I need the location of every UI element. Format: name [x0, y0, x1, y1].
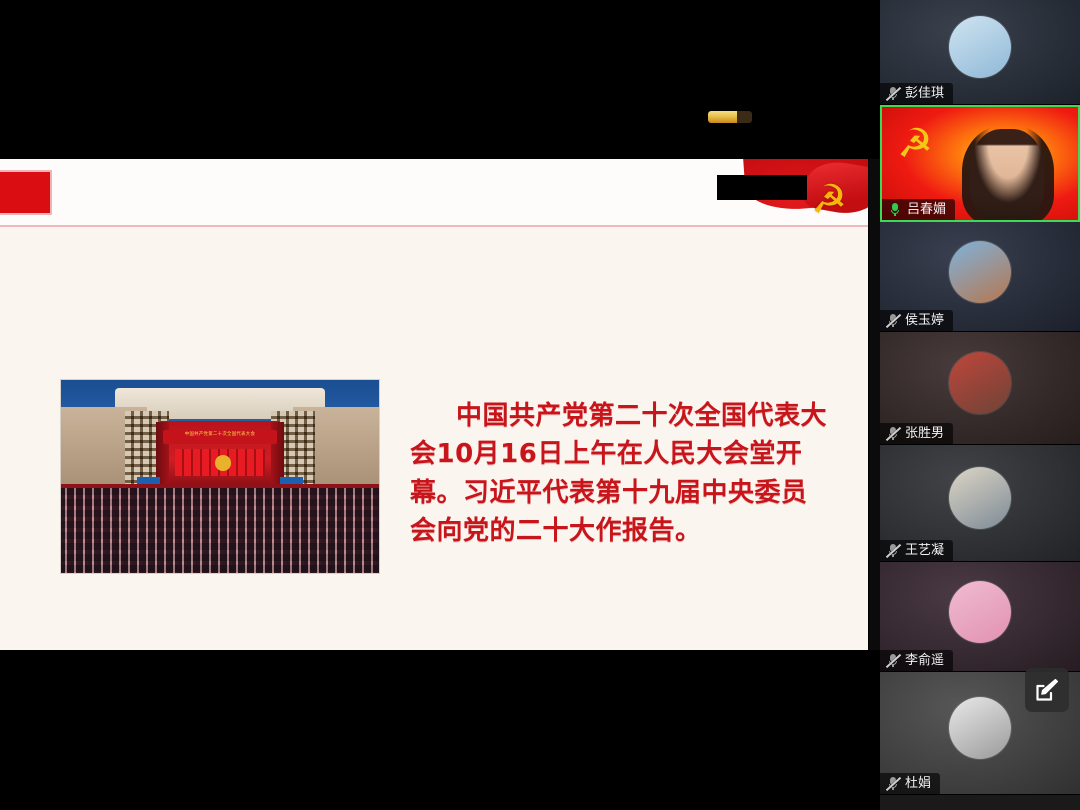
avatar — [949, 241, 1011, 303]
photo-audience — [61, 488, 379, 573]
slide-body: 中国共产党第二十次全国代表大会 中国共产党第二十次全国代表大会10月16日上午在… — [0, 227, 868, 650]
participant-name: 王艺凝 — [905, 543, 944, 558]
participant-name: 彭佳琪 — [905, 86, 944, 101]
participant-nameplate: 杜娟 — [880, 773, 940, 794]
microphone-muted-icon[interactable] — [886, 313, 900, 328]
avatar — [949, 352, 1011, 414]
pencil-icon — [1034, 677, 1060, 703]
avatar-image — [949, 697, 1011, 759]
microphone-muted-icon[interactable] — [886, 776, 900, 791]
congress-hall-photo: 中国共产党第二十次全国代表大会 — [60, 379, 380, 574]
participant-nameplate: 王艺凝 — [880, 540, 953, 561]
participant-tile[interactable]: 侯玉婷 — [880, 222, 1080, 332]
participant-tile[interactable]: 张胜男 — [880, 332, 1080, 445]
participant-nameplate: 侯玉婷 — [880, 310, 953, 331]
meeting-screen: ☭ 中国共产党第二十次全国代表大会 — [0, 0, 1080, 810]
slide-header: ☭ — [0, 159, 868, 225]
avatar-image — [949, 352, 1011, 414]
participant-hair — [962, 125, 1054, 222]
shared-screen-scrollbar-track[interactable] — [869, 159, 880, 650]
participant-nameplate: 张胜男 — [880, 423, 953, 444]
photo-stage-banner: 中国共产党第二十次全国代表大会 — [163, 430, 277, 444]
avatar-image — [949, 241, 1011, 303]
share-progress-fill — [708, 111, 737, 123]
annotate-button[interactable] — [1025, 668, 1069, 712]
participant-name: 侯玉婷 — [905, 313, 944, 328]
participant-name: 吕春媚 — [907, 202, 946, 217]
microphone-muted-icon[interactable] — [886, 86, 900, 101]
slide-header-red-block — [0, 170, 52, 215]
avatar-image — [949, 16, 1011, 78]
avatar-image — [949, 467, 1011, 529]
avatar — [949, 16, 1011, 78]
participant-name: 李俞遥 — [905, 653, 944, 668]
redaction-box — [717, 175, 807, 200]
participant-nameplate: 李俞遥 — [880, 650, 953, 671]
participant-nameplate: 吕春媚 — [882, 199, 955, 220]
microphone-icon[interactable] — [888, 202, 902, 217]
microphone-muted-icon[interactable] — [886, 653, 900, 668]
participant-name: 张胜男 — [905, 426, 944, 441]
presentation-slide: ☭ 中国共产党第二十次全国代表大会 — [0, 159, 868, 650]
participant-tile[interactable]: ☭吕春媚 — [880, 105, 1080, 222]
avatar — [949, 581, 1011, 643]
participant-tile[interactable]: 彭佳琪 — [880, 0, 1080, 105]
microphone-muted-icon[interactable] — [886, 543, 900, 558]
avatar-image — [949, 581, 1011, 643]
participant-tile[interactable]: 王艺凝 — [880, 445, 1080, 562]
avatar — [949, 697, 1011, 759]
microphone-muted-icon[interactable] — [886, 426, 900, 441]
avatar — [949, 467, 1011, 529]
photo-center-emblem — [215, 455, 231, 470]
slide-paragraph: 中国共产党第二十次全国代表大会10月16日上午在人民大会堂开幕。习近平代表第十九… — [410, 397, 830, 551]
share-progress-indicator — [708, 111, 752, 123]
party-emblem-icon: ☭ — [806, 177, 852, 223]
participant-name: 杜娟 — [905, 776, 931, 791]
shared-screen-area: ☭ 中国共产党第二十次全国代表大会 — [0, 0, 880, 810]
party-flag-emblem-icon: ☭ — [892, 121, 938, 167]
participant-nameplate: 彭佳琪 — [880, 83, 953, 104]
participant-tile[interactable]: 李俞遥 — [880, 562, 1080, 672]
